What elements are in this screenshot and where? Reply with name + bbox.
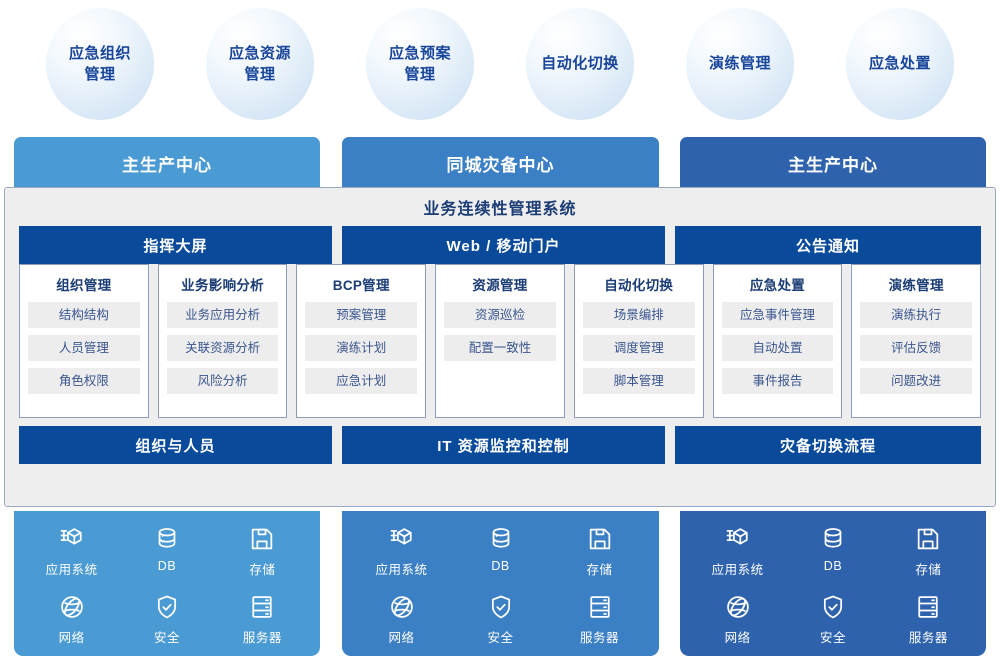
module-chip[interactable]: 角色权限 [28, 368, 140, 394]
module-card-row: 组织管理 结构结构 人员管理 角色权限 业务影响分析 业务应用分析 关联资源分析… [19, 264, 981, 418]
module-card[interactable]: 自动化切换 场景编排 调度管理 脚本管理 [574, 264, 704, 418]
infra-item-label: DB [158, 559, 176, 573]
infra-item-network[interactable]: 网络 [24, 593, 119, 649]
infra-item-label: 网络 [725, 627, 751, 646]
module-card-title: 自动化切换 [583, 274, 695, 294]
infra-item-label: DB [491, 559, 509, 573]
infra-item-label: 服务器 [580, 627, 619, 646]
infra-item-application-system[interactable]: 应用系统 [24, 525, 119, 581]
module-card[interactable]: 组织管理 结构结构 人员管理 角色权限 [19, 264, 149, 418]
storage-icon [586, 525, 614, 553]
infra-item-label: 安全 [820, 627, 846, 646]
infra-item-label: 安全 [154, 627, 180, 646]
module-card[interactable]: 资源管理 资源巡检 配置一致性 [435, 264, 565, 418]
module-chip[interactable]: 调度管理 [583, 335, 695, 361]
data-center-bar-primary[interactable]: 主生产中心 [14, 137, 320, 189]
module-card-title: 组织管理 [28, 274, 140, 294]
module-chip[interactable]: 关联资源分析 [167, 335, 279, 361]
capability-label: 应急组织管理 [69, 43, 131, 86]
infra-item-label: 存储 [915, 559, 941, 578]
capability-ellipse[interactable]: 自动化切换 [526, 8, 634, 120]
module-card[interactable]: 演练管理 演练执行 评估反馈 问题改进 [851, 264, 981, 418]
infra-item-label: 应用系统 [375, 559, 427, 578]
module-card[interactable]: BCP管理 预案管理 演练计划 应急计划 [296, 264, 426, 418]
data-center-label: 同城灾备中心 [447, 151, 555, 176]
module-card[interactable]: 应急处置 应急事件管理 自动处置 事件报告 [713, 264, 843, 418]
infrastructure-panel-primary: 应用系统 DB 存储 网络 安全 [14, 511, 320, 656]
infra-item-database[interactable]: DB [451, 525, 550, 581]
platform-bar-label: IT 资源监控和控制 [437, 435, 570, 456]
infra-item-storage[interactable]: 存储 [215, 525, 310, 581]
application-system-icon [388, 525, 416, 553]
module-chip[interactable]: 风险分析 [167, 368, 279, 394]
capability-label: 应急预案管理 [389, 43, 451, 86]
application-system-icon [58, 525, 86, 553]
platform-bar-announcement[interactable]: 公告通知 [675, 226, 981, 264]
module-chip[interactable]: 场景编排 [583, 302, 695, 328]
infrastructure-panel-metro-dr: 应用系统 DB 存储 网络 安全 [342, 511, 659, 656]
infra-item-database[interactable]: DB [785, 525, 880, 581]
platform-bar-label: Web / 移动门户 [447, 235, 561, 256]
data-center-bar-metro-dr[interactable]: 同城灾备中心 [342, 137, 659, 189]
security-shield-icon [153, 593, 181, 621]
module-chip[interactable]: 人员管理 [28, 335, 140, 361]
database-icon [487, 525, 515, 553]
infra-item-security[interactable]: 安全 [785, 593, 880, 649]
infra-item-server[interactable]: 服务器 [215, 593, 310, 649]
infra-item-database[interactable]: DB [119, 525, 214, 581]
infra-item-label: 存储 [586, 559, 612, 578]
application-system-icon [724, 525, 752, 553]
network-icon [724, 593, 752, 621]
module-chip[interactable]: 脚本管理 [583, 368, 695, 394]
infra-item-network[interactable]: 网络 [690, 593, 785, 649]
storage-icon [248, 525, 276, 553]
infra-item-label: 存储 [249, 559, 275, 578]
bcm-platform-panel: 业务连续性管理系统 指挥大屏 Web / 移动门户 公告通知 组织管理 结构结构… [4, 187, 996, 507]
platform-title: 业务连续性管理系统 [5, 188, 995, 226]
capability-ellipse[interactable]: 应急处置 [846, 8, 954, 120]
platform-bar-dr-switch-process[interactable]: 灾备切换流程 [675, 426, 981, 464]
infra-item-label: DB [824, 559, 842, 573]
capability-ellipse[interactable]: 演练管理 [686, 8, 794, 120]
security-shield-icon [487, 593, 515, 621]
infra-item-storage[interactable]: 存储 [550, 525, 649, 581]
data-center-label: 主生产中心 [788, 151, 878, 176]
platform-bar-label: 组织与人员 [135, 435, 215, 456]
module-card-title: 资源管理 [444, 274, 556, 294]
server-rack-icon [248, 593, 276, 621]
module-chip[interactable]: 评估反馈 [860, 335, 972, 361]
platform-bottom-bar-row: 组织与人员 IT 资源监控和控制 灾备切换流程 [5, 426, 995, 464]
infrastructure-row: 应用系统 DB 存储 网络 安全 [0, 511, 1000, 663]
infra-item-label: 应用系统 [712, 559, 764, 578]
infra-item-storage[interactable]: 存储 [881, 525, 976, 581]
module-chip[interactable]: 问题改进 [860, 368, 972, 394]
infra-item-label: 网络 [59, 627, 85, 646]
infrastructure-grid: 应用系统 DB 存储 网络 安全 [24, 525, 310, 648]
platform-bar-org-personnel[interactable]: 组织与人员 [19, 426, 332, 464]
module-chip[interactable]: 事件报告 [722, 368, 834, 394]
storage-icon [914, 525, 942, 553]
module-chip[interactable]: 自动处置 [722, 335, 834, 361]
network-icon [58, 593, 86, 621]
module-chip[interactable]: 演练计划 [305, 335, 417, 361]
infra-item-server[interactable]: 服务器 [550, 593, 649, 649]
infra-item-network[interactable]: 网络 [352, 593, 451, 649]
infrastructure-panel-secondary: 应用系统 DB 存储 网络 安全 [680, 511, 986, 656]
module-card-title: BCP管理 [305, 274, 417, 294]
module-chip[interactable]: 配置一致性 [444, 335, 556, 361]
infra-item-security[interactable]: 安全 [451, 593, 550, 649]
data-center-bar-secondary[interactable]: 主生产中心 [680, 137, 986, 189]
platform-bar-it-resource-monitoring[interactable]: IT 资源监控和控制 [342, 426, 665, 464]
platform-bar-label: 指挥大屏 [143, 235, 207, 256]
module-card-title: 演练管理 [860, 274, 972, 294]
infra-item-label: 应用系统 [46, 559, 98, 578]
module-chip[interactable]: 预案管理 [305, 302, 417, 328]
server-rack-icon [586, 593, 614, 621]
infra-item-application-system[interactable]: 应用系统 [352, 525, 451, 581]
security-shield-icon [819, 593, 847, 621]
infra-item-label: 网络 [388, 627, 414, 646]
infra-item-application-system[interactable]: 应用系统 [690, 525, 785, 581]
capability-label: 自动化切换 [541, 53, 619, 74]
capability-ellipse[interactable]: 应急组织管理 [46, 8, 154, 120]
module-chip[interactable]: 资源巡检 [444, 302, 556, 328]
platform-bar-label: 公告通知 [796, 235, 860, 256]
module-card[interactable]: 业务影响分析 业务应用分析 关联资源分析 风险分析 [158, 264, 288, 418]
capability-label: 应急资源管理 [229, 43, 291, 86]
platform-top-bar-row: 指挥大屏 Web / 移动门户 公告通知 [5, 226, 995, 264]
module-card-title: 应急处置 [722, 274, 834, 294]
infra-item-security[interactable]: 安全 [119, 593, 214, 649]
infrastructure-grid: 应用系统 DB 存储 网络 安全 [352, 525, 649, 648]
module-chip[interactable]: 应急计划 [305, 368, 417, 394]
infrastructure-grid: 应用系统 DB 存储 网络 安全 [690, 525, 976, 648]
module-chip[interactable]: 演练执行 [860, 302, 972, 328]
module-chip[interactable]: 结构结构 [28, 302, 140, 328]
capability-ellipse-row: 应急组织管理 应急资源管理 应急预案管理 自动化切换 演练管理 应急处置 [0, 0, 1000, 128]
database-icon [153, 525, 181, 553]
infra-item-label: 服务器 [243, 627, 282, 646]
capability-label: 应急处置 [869, 53, 931, 74]
capability-ellipse[interactable]: 应急预案管理 [366, 8, 474, 120]
platform-bar-command-screen[interactable]: 指挥大屏 [19, 226, 332, 264]
platform-bar-label: 灾备切换流程 [780, 435, 876, 456]
data-center-header-row: 主生产中心 同城灾备中心 主生产中心 [0, 137, 1000, 189]
module-chip[interactable]: 应急事件管理 [722, 302, 834, 328]
capability-label: 演练管理 [709, 53, 771, 74]
infra-item-label: 服务器 [909, 627, 948, 646]
capability-ellipse[interactable]: 应急资源管理 [206, 8, 314, 120]
data-center-label: 主生产中心 [122, 151, 212, 176]
server-rack-icon [914, 593, 942, 621]
bcm-architecture-diagram: 应急组织管理 应急资源管理 应急预案管理 自动化切换 演练管理 应急处置 主生产… [0, 0, 1000, 663]
database-icon [819, 525, 847, 553]
infra-item-label: 安全 [487, 627, 513, 646]
network-icon [388, 593, 416, 621]
infra-item-server[interactable]: 服务器 [881, 593, 976, 649]
module-card-title: 业务影响分析 [167, 274, 279, 294]
platform-bar-web-portal[interactable]: Web / 移动门户 [342, 226, 665, 264]
module-chip[interactable]: 业务应用分析 [167, 302, 279, 328]
